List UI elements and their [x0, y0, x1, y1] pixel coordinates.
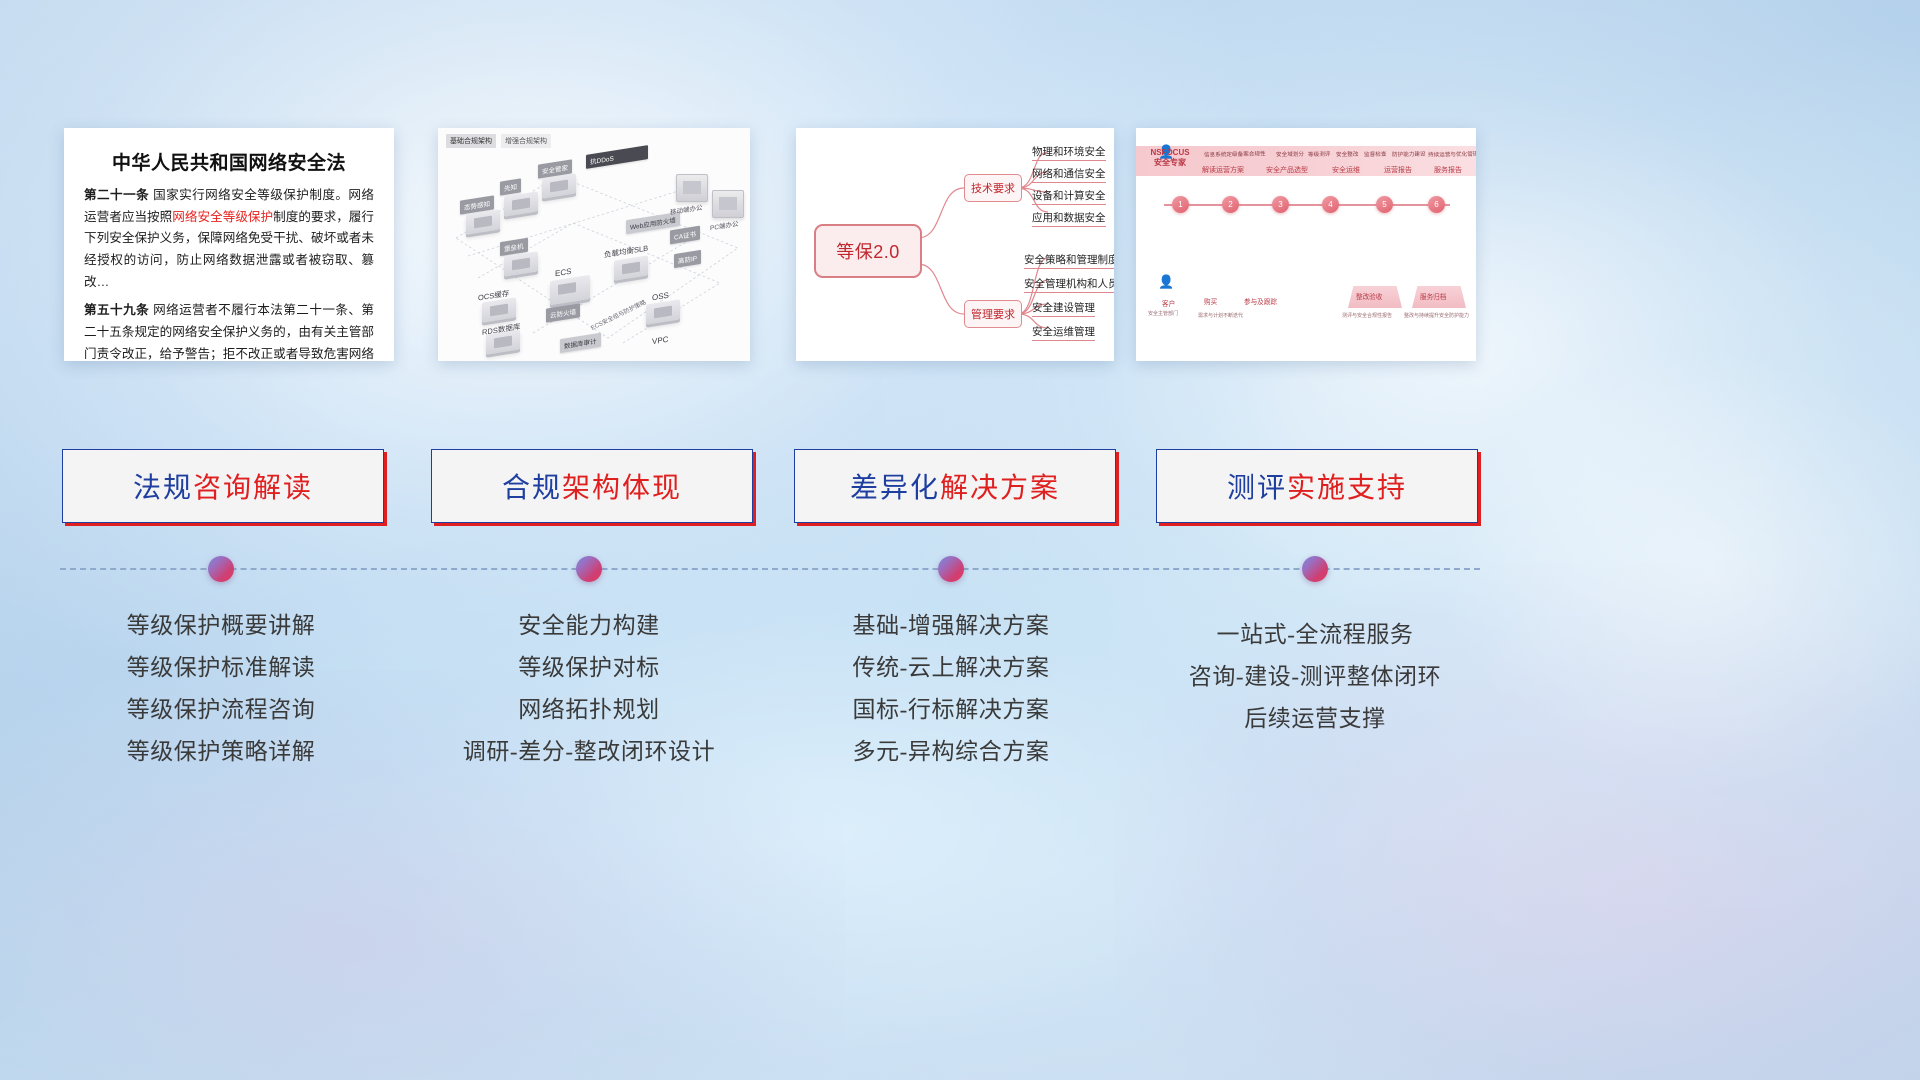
section-title-1-red: 咨询解读 — [193, 473, 313, 504]
list-item: 多元-异构综合方案 — [761, 731, 1141, 773]
list-item: 网络拓扑规划 — [399, 689, 779, 731]
roadmap-header-cell-6: 防护能力建设 — [1392, 150, 1426, 159]
roadmap-sub-cell-2: 安全产品选型 — [1266, 165, 1308, 175]
mindmap-leaf-device: 设备和计算安全 — [1032, 188, 1106, 205]
preview-card-architecture[interactable]: 基础合规架构 增强合规架构 态势感知 先知 安全管家 抗DDoS — [438, 128, 750, 361]
architecture-device-pc — [712, 190, 744, 218]
law-article-21-label: 第二十一条 — [84, 188, 149, 202]
section-title-4-red: 实施支持 — [1287, 473, 1407, 504]
roadmap-axis — [1164, 204, 1450, 206]
timeline-dot-1[interactable] — [208, 556, 234, 582]
preview-card-mindmap[interactable]: 等保2.0 技术要求 管理要求 物理和环境安全 网络和通信安全 设备和计算安全 … — [796, 128, 1114, 361]
roadmap-sub-cell-4: 运营报告 — [1384, 165, 1412, 175]
preview-card-law[interactable]: 中华人民共和国网络安全法 第二十一条 国家实行网络安全等级保护制度。网络运营者应… — [64, 128, 394, 361]
roadmap-bottom-note-1: 需求与计划不断迭代 — [1198, 312, 1243, 319]
mindmap-leaf-physical: 物理和环境安全 — [1032, 144, 1106, 161]
mindmap-leaf-operation: 安全运维管理 — [1032, 324, 1095, 341]
preview-card-roadmap[interactable]: 👤 NSFOCUS 安全专家 信息系统定级备案合规性 安全域划分 等级测评 安全… — [1136, 128, 1476, 361]
timeline-dot-2[interactable] — [576, 556, 602, 582]
roadmap-header-cell-3: 等级测评 — [1308, 150, 1331, 158]
roadmap-sub-cell-5: 服务报告 — [1434, 165, 1462, 175]
roadmap-step-4: 4 — [1322, 196, 1339, 213]
law-article-59-label: 第五十九条 — [84, 303, 149, 317]
mindmap-leaf-construction: 安全建设管理 — [1032, 300, 1095, 317]
list-item: 等级保护流程咨询 — [31, 689, 411, 731]
law-title: 中华人民共和国网络安全法 — [84, 148, 374, 175]
list-item: 等级保护对标 — [399, 647, 779, 689]
list-item: 等级保护概要讲解 — [31, 605, 411, 647]
roadmap-bottom-tag-4: 服务归档 — [1420, 291, 1446, 301]
law-article-21-highlight: 网络安全等级保护 — [172, 210, 273, 224]
list-item: 等级保护策略详解 — [31, 731, 411, 773]
list-item: 基础-增强解决方案 — [761, 605, 1141, 647]
section-title-box-1[interactable]: 法规咨询解读 — [62, 449, 384, 523]
section-title-2: 合规架构体现 — [502, 466, 682, 506]
roadmap-step-3: 3 — [1272, 196, 1289, 213]
roadmap-header-cell-2: 安全域划分 — [1276, 150, 1304, 158]
list-item: 咨询-建设-测评整体闭环 — [1125, 656, 1505, 698]
roadmap-bottom-tag-2: 参与及跟踪 — [1244, 296, 1277, 306]
section-title-3-red: 解决方案 — [940, 473, 1060, 504]
roadmap-brand-sub: 安全专家 — [1154, 158, 1186, 167]
architecture-device-mobile — [676, 174, 708, 202]
roadmap-step-1: 1 — [1172, 196, 1189, 213]
timeline-dot-4[interactable] — [1302, 556, 1328, 582]
mindmap-branch-management: 管理要求 — [964, 300, 1022, 328]
section-list-2: 安全能力构建 等级保护对标 网络拓扑规划 调研-差分-整改闭环设计 — [399, 605, 779, 772]
roadmap-customer-icon: 👤 — [1158, 274, 1174, 290]
section-list-3: 基础-增强解决方案 传统-云上解决方案 国标-行标解决方案 多元-异构综合方案 — [761, 605, 1141, 772]
roadmap-header-cell-7: 持续运营与优化管理体系 — [1428, 149, 1476, 158]
section-title-3-blue: 差异化 — [850, 473, 940, 504]
roadmap-header-cell-5: 监督检查 — [1364, 150, 1387, 158]
roadmap-role-customer: 客户 — [1162, 298, 1175, 308]
timeline-dot-3[interactable] — [938, 556, 964, 582]
roadmap-step-6: 6 — [1428, 196, 1445, 213]
list-item: 传统-云上解决方案 — [761, 647, 1141, 689]
mindmap-leaf-network: 网络和通信安全 — [1032, 166, 1106, 183]
list-item: 等级保护标准解读 — [31, 647, 411, 689]
mindmap-root: 等保2.0 — [814, 224, 922, 278]
roadmap-role-customer-sub: 安全主管部门 — [1148, 310, 1178, 317]
list-item: 一站式-全流程服务 — [1125, 614, 1505, 656]
roadmap-bottom-note-3: 整改与持续提升安全防护能力 — [1404, 312, 1469, 319]
mindmap-leaf-application: 应用和数据安全 — [1032, 210, 1106, 227]
roadmap-diagram: 👤 NSFOCUS 安全专家 信息系统定级备案合规性 安全域划分 等级测评 安全… — [1136, 128, 1476, 361]
roadmap-bottom-note-2: 测评与安全合规性报告 — [1342, 312, 1392, 319]
roadmap-sub-cell-1: 解读运营方案 — [1202, 165, 1244, 175]
section-title-2-blue: 合规 — [502, 473, 562, 504]
section-title-4: 测评实施支持 — [1227, 466, 1407, 506]
architecture-diagram: 基础合规架构 增强合规架构 态势感知 先知 安全管家 抗DDoS — [438, 128, 750, 361]
mindmap-branch-technical: 技术要求 — [964, 174, 1022, 202]
list-item: 后续运营支撑 — [1125, 698, 1505, 740]
roadmap-brand: NSFOCUS 安全专家 — [1144, 148, 1196, 168]
mindmap-leaf-policy: 安全策略和管理制度 — [1024, 252, 1114, 269]
list-item: 安全能力构建 — [399, 605, 779, 647]
timeline-axis — [60, 568, 1480, 570]
section-list-1: 等级保护概要讲解 等级保护标准解读 等级保护流程咨询 等级保护策略详解 — [31, 605, 411, 772]
section-title-box-3[interactable]: 差异化解决方案 — [794, 449, 1116, 523]
mindmap-leaf-org: 安全管理机构和人员 — [1024, 276, 1114, 293]
section-title-1-blue: 法规 — [133, 473, 193, 504]
section-title-3: 差异化解决方案 — [850, 466, 1060, 506]
section-title-2-red: 架构体现 — [562, 473, 682, 504]
list-item: 国标-行标解决方案 — [761, 689, 1141, 731]
roadmap-bottom-tag-3: 整改验收 — [1356, 291, 1382, 301]
list-item: 调研-差分-整改闭环设计 — [399, 731, 779, 773]
roadmap-header-cell-1: 信息系统定级备案合规性 — [1204, 149, 1266, 158]
law-article-21: 第二十一条 国家实行网络安全等级保护制度。网络运营者应当按照网络安全等级保护制度… — [84, 185, 374, 293]
roadmap-step-2: 2 — [1222, 196, 1239, 213]
section-title-box-2[interactable]: 合规架构体现 — [431, 449, 753, 523]
slide-stage: 中华人民共和国网络安全法 第二十一条 国家实行网络安全等级保护制度。网络运营者应… — [0, 0, 1920, 1080]
roadmap-bottom-tag-1: 购买 — [1204, 296, 1217, 306]
section-title-4-blue: 测评 — [1227, 473, 1287, 504]
roadmap-brand-name: NSFOCUS — [1150, 148, 1189, 157]
roadmap-header-cell-4: 安全整改 — [1336, 150, 1359, 158]
roadmap-sub-cell-3: 安全运维 — [1332, 165, 1360, 175]
section-list-4: 一站式-全流程服务 咨询-建设-测评整体闭环 后续运营支撑 — [1125, 614, 1505, 740]
roadmap-step-5: 5 — [1376, 196, 1393, 213]
section-title-1: 法规咨询解读 — [133, 466, 313, 506]
section-title-box-4[interactable]: 测评实施支持 — [1156, 449, 1478, 523]
law-article-59: 第五十九条 网络运营者不履行本法第二十一条、第二十五条规定的网络安全保护义务的，… — [84, 300, 374, 361]
mindmap-diagram: 等保2.0 技术要求 管理要求 物理和环境安全 网络和通信安全 设备和计算安全 … — [796, 128, 1114, 361]
